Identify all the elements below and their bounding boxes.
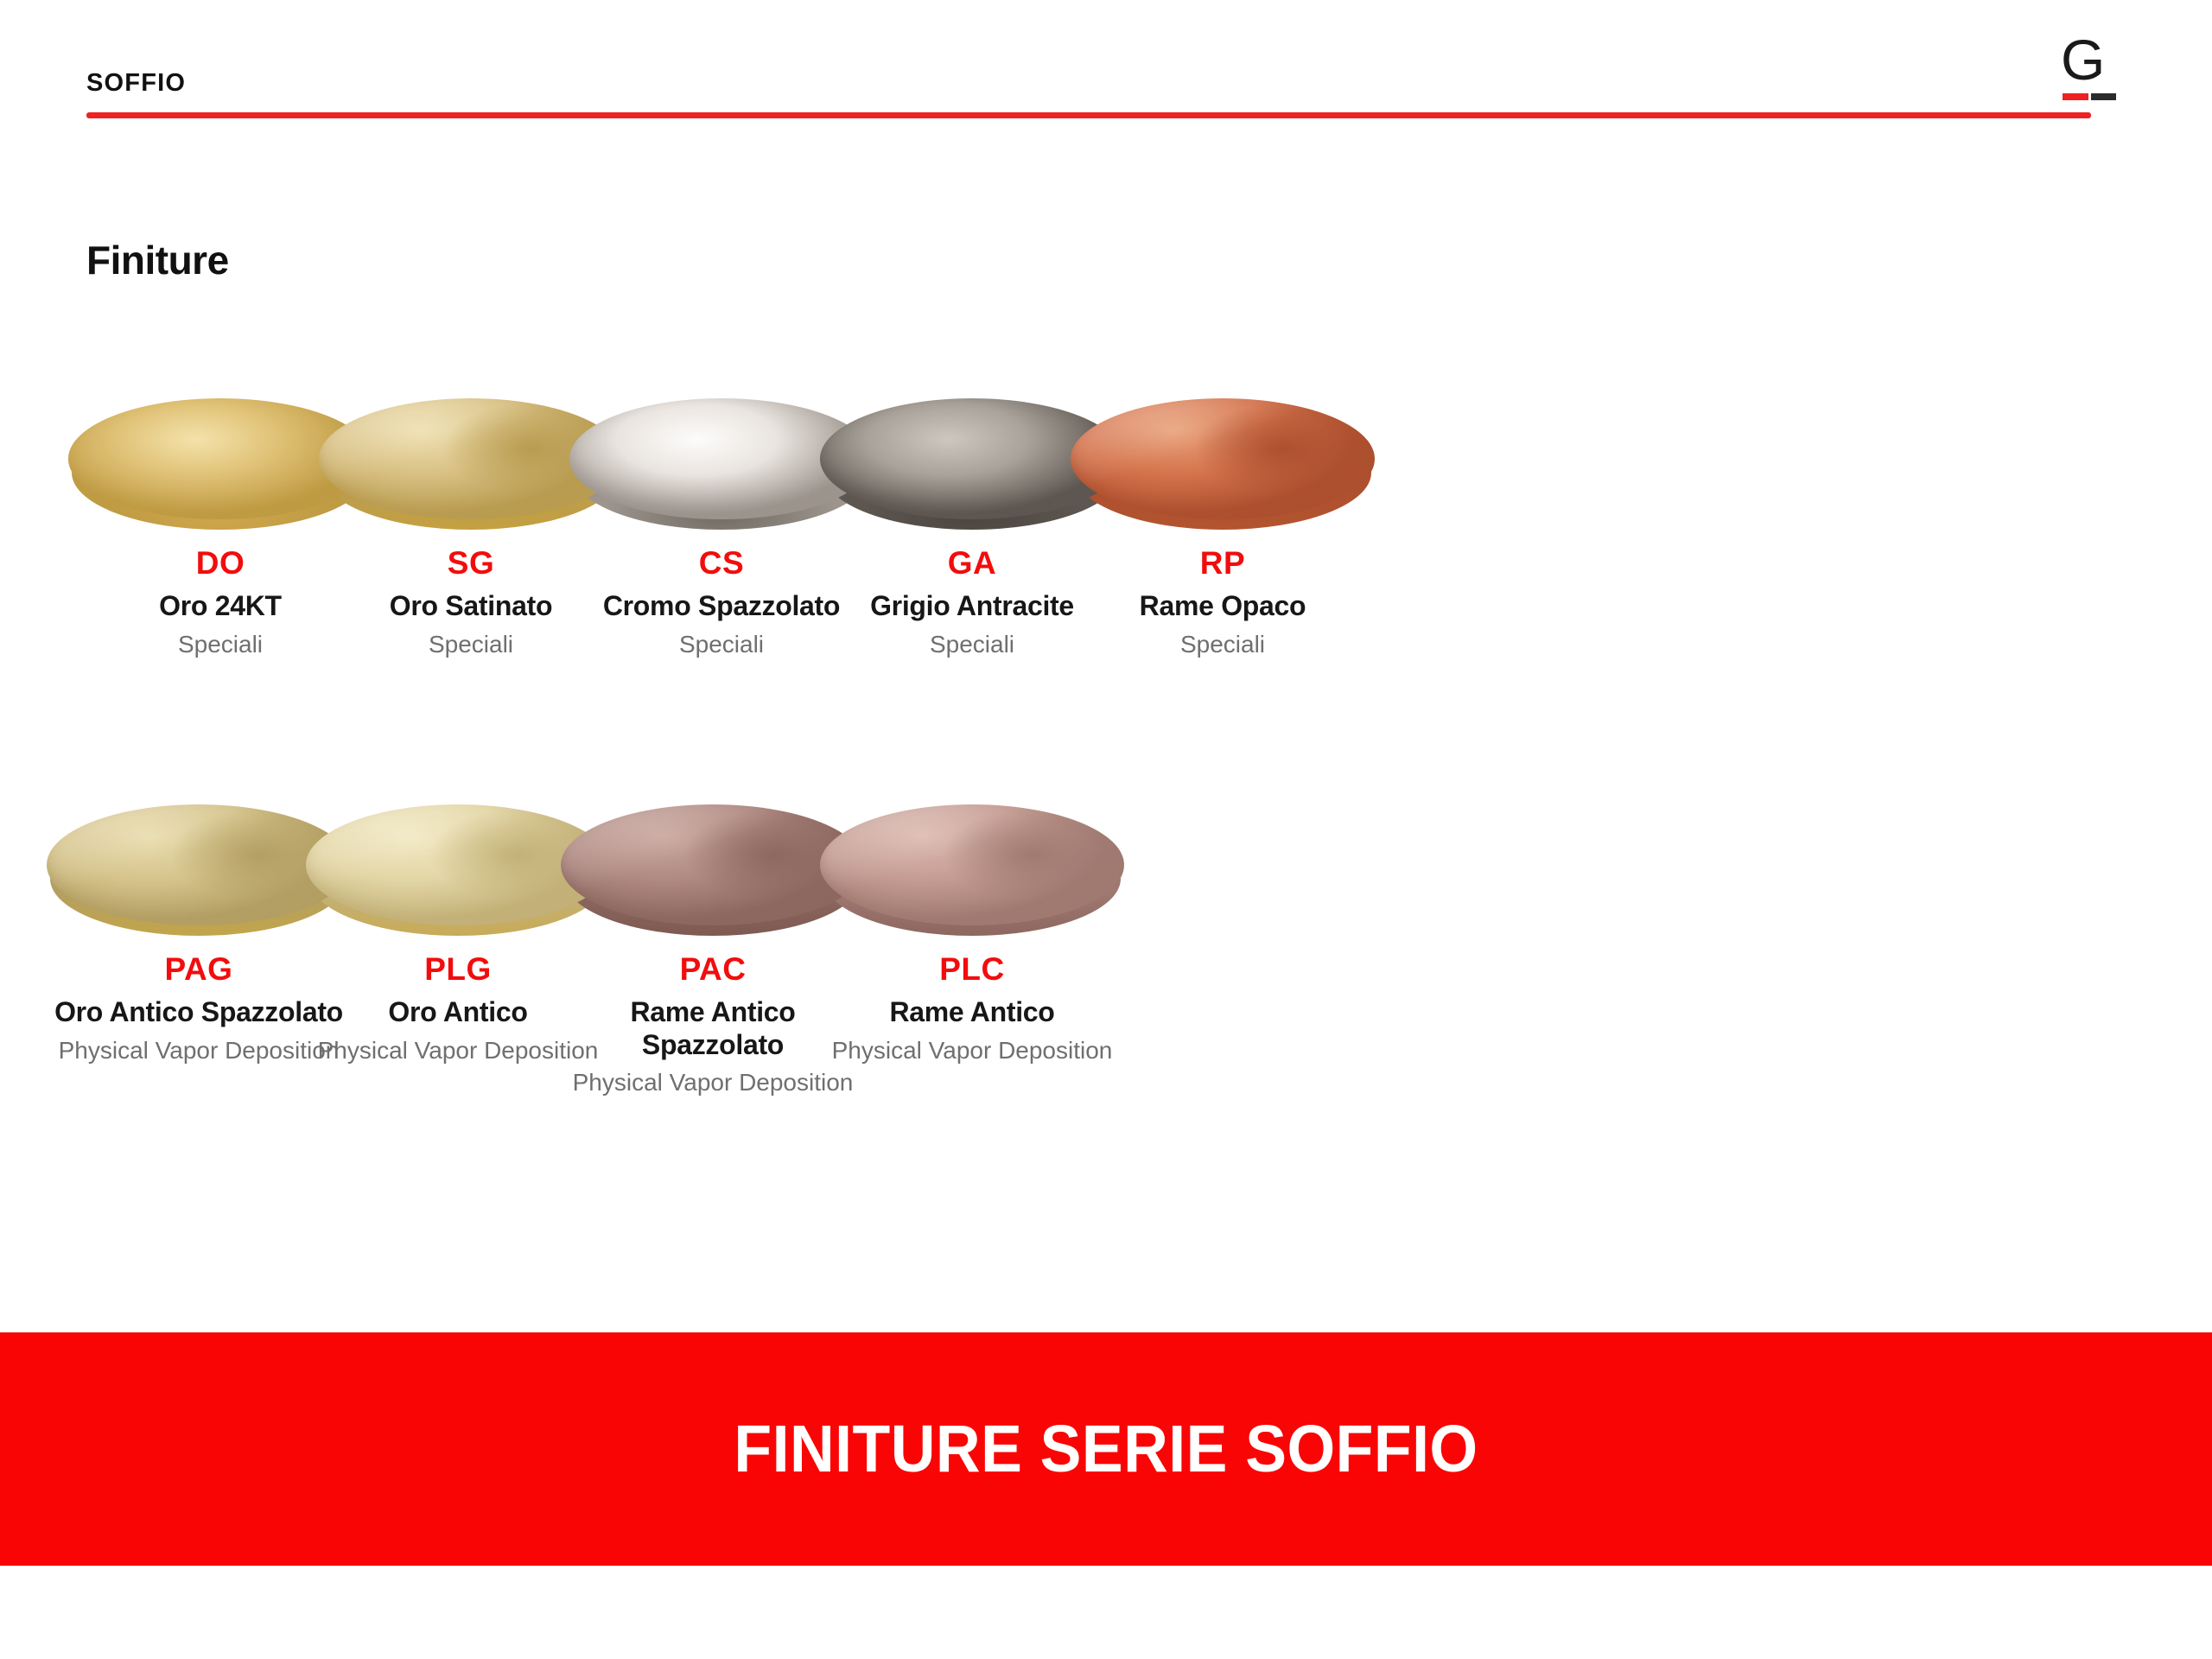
finish-technology: Physical Vapor Deposition <box>817 1036 1128 1065</box>
finish-technology: Speciali <box>1067 630 1378 658</box>
section-heading: Finiture <box>86 240 229 280</box>
finish-labels: PLC Rame Antico Physical Vapor Depositio… <box>817 953 1128 1065</box>
finish-card-rp[interactable]: RP Rame Opaco Speciali <box>1067 393 1378 540</box>
footer-banner-label: FINITURE SERIE SOFFIO <box>734 1416 1478 1483</box>
brand-underline-icon <box>2063 93 2116 100</box>
finish-swatch-rp <box>1067 393 1378 540</box>
finish-labels: RP Rame Opaco Speciali <box>1067 547 1378 658</box>
brand-letter-g-icon: G <box>2061 33 2130 86</box>
finish-technology: Physical Vapor Deposition <box>557 1068 868 1096</box>
finish-swatch-plc <box>817 799 1128 946</box>
finish-code: PLC <box>817 953 1128 987</box>
finish-code: RP <box>1067 547 1378 581</box>
finish-card-plc[interactable]: PLC Rame Antico Physical Vapor Depositio… <box>817 799 1128 946</box>
slide-header: SOFFIO G <box>0 0 2212 130</box>
footer-banner: FINITURE SERIE SOFFIO <box>0 1332 2212 1566</box>
header-divider <box>86 112 2091 118</box>
brand-underline-dark-segment <box>2091 93 2116 100</box>
finish-name: Rame Antico <box>817 996 1128 1029</box>
brand-underline-red-segment <box>2063 93 2088 100</box>
slide-canvas: SOFFIO G Finiture DO Oro 24KT Speciali <box>0 0 2212 1659</box>
brand-logo: G <box>2061 33 2130 111</box>
page-title: SOFFIO <box>86 71 186 96</box>
finish-name: Rame Opaco <box>1067 590 1378 623</box>
